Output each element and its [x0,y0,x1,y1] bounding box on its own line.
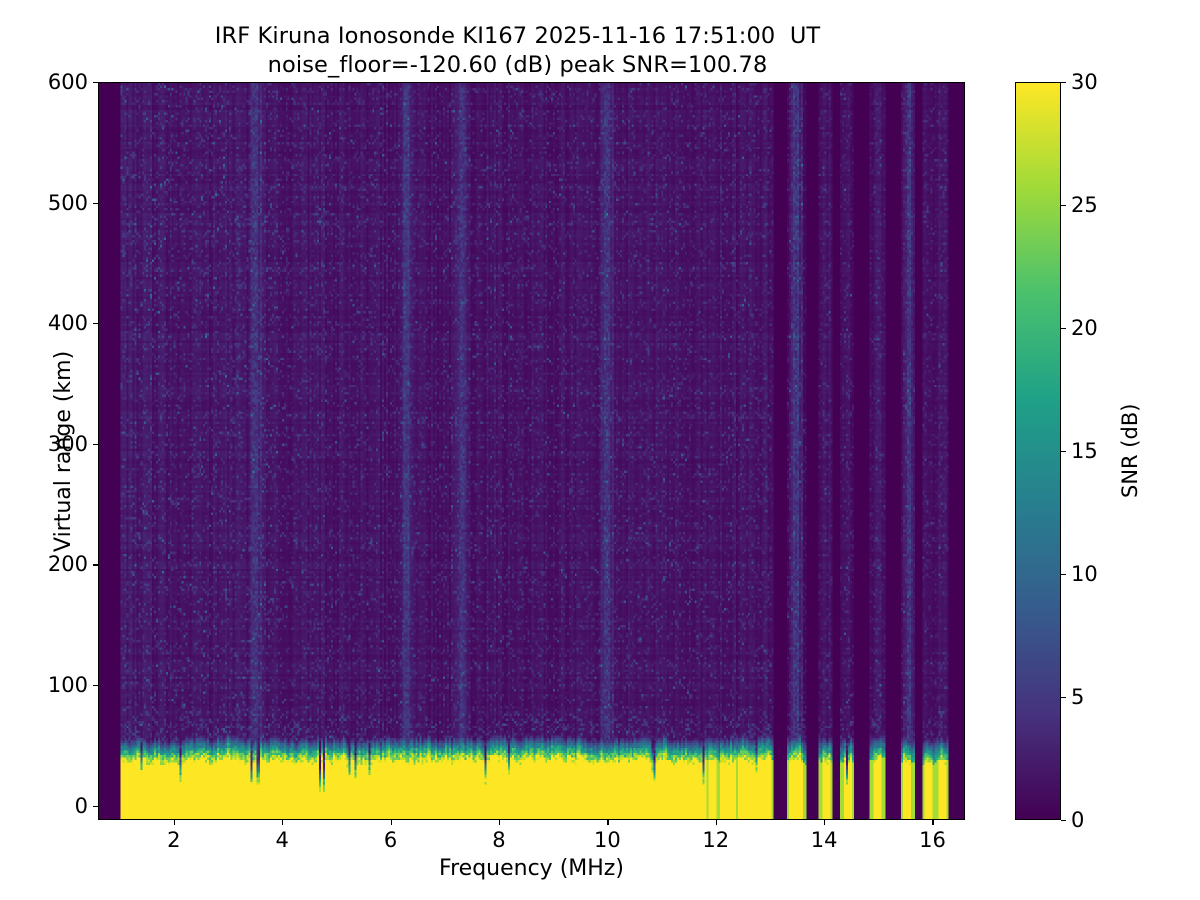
colorbar-tick [1061,451,1066,452]
x-tick-label: 10 [594,828,621,852]
colorbar-tick [1061,82,1066,83]
colorbar-tick [1061,328,1066,329]
y-tick [93,444,98,445]
colorbar-tick-label: 5 [1071,685,1084,709]
x-tick [716,820,717,825]
x-tick-label: 2 [167,828,180,852]
x-tick-label: 16 [919,828,946,852]
y-tick [93,564,98,565]
y-tick-label: 200 [48,552,88,576]
x-tick [932,820,933,825]
colorbar-tick-label: 25 [1071,193,1098,217]
plot-area [98,82,965,820]
heatmap-canvas [99,83,964,819]
y-tick [93,323,98,324]
colorbar-tick-label: 15 [1071,439,1098,463]
y-tick-label: 400 [48,311,88,335]
x-tick [391,820,392,825]
y-tick [93,806,98,807]
y-tick [93,685,98,686]
x-tick-label: 6 [384,828,397,852]
colorbar-tick-label: 20 [1071,316,1098,340]
y-tick-label: 100 [48,673,88,697]
x-tick-label: 4 [276,828,289,852]
x-tick [607,820,608,825]
x-axis-label: Frequency (MHz) [98,856,965,881]
x-tick-label: 8 [492,828,505,852]
colorbar-label: SNR (dB) [1118,404,1142,498]
colorbar-tick-label: 0 [1071,808,1084,832]
colorbar-tick [1061,820,1066,821]
ionogram-figure: IRF Kiruna Ionosonde KI167 2025-11-16 17… [0,0,1200,900]
x-tick-label: 14 [811,828,838,852]
ionogram-heatmap [99,83,964,819]
colorbar-gradient [1016,83,1060,819]
x-tick [174,820,175,825]
x-tick-label: 12 [702,828,729,852]
colorbar [1015,82,1061,820]
figure-title: IRF Kiruna Ionosonde KI167 2025-11-16 17… [0,22,1035,81]
y-tick-label: 600 [48,70,88,94]
y-tick [93,82,98,83]
y-tick-label: 300 [48,432,88,456]
colorbar-tick [1061,205,1066,206]
x-tick [824,820,825,825]
title-line-2: noise_floor=-120.60 (dB) peak SNR=100.78 [0,51,1035,80]
x-tick [282,820,283,825]
y-tick [93,203,98,204]
colorbar-tick [1061,697,1066,698]
y-tick-label: 500 [48,191,88,215]
colorbar-tick-label: 10 [1071,562,1098,586]
colorbar-tick [1061,574,1066,575]
x-tick [499,820,500,825]
title-line-1: IRF Kiruna Ionosonde KI167 2025-11-16 17… [0,22,1035,51]
colorbar-tick-label: 30 [1071,70,1098,94]
y-tick-label: 0 [75,794,88,818]
